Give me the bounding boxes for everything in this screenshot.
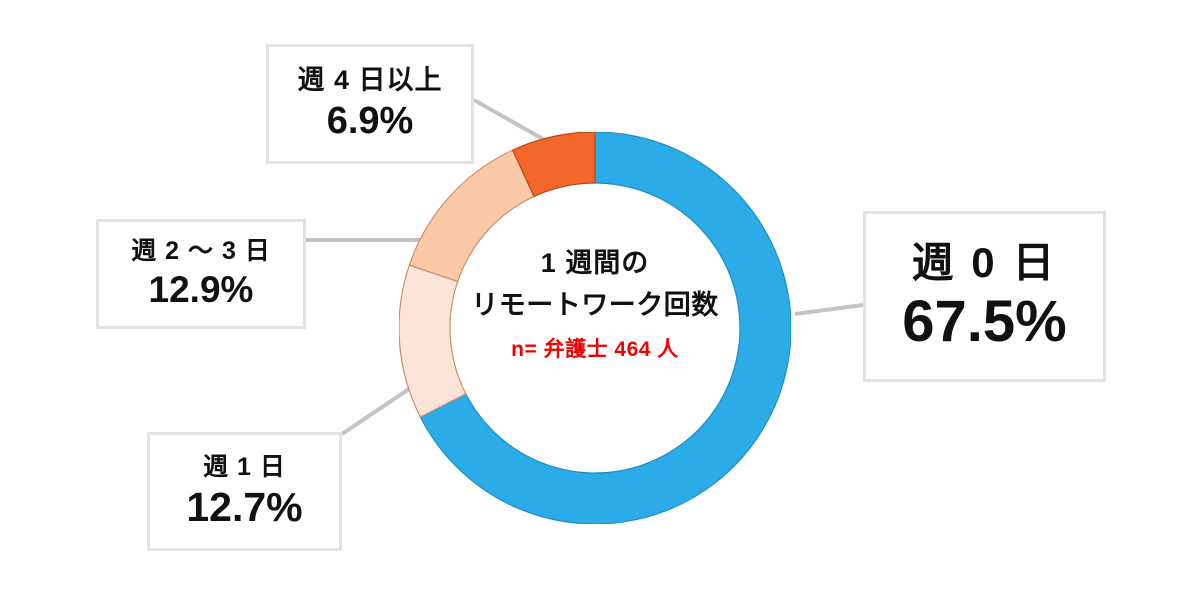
callout-category-week4plus: 週 4 日以上 — [297, 66, 442, 96]
chart-canvas: 1 週間の リモートワーク回数 n= 弁護士 464 人 週 4 日以上 6.9… — [0, 0, 1200, 600]
callout-percent-week23: 12.9% — [149, 271, 254, 310]
callout-percent-week4plus: 6.9% — [327, 102, 414, 142]
callout-box-week0[interactable]: 週 0 日 67.5% — [863, 211, 1106, 382]
callout-percent-week0: 67.5% — [902, 292, 1066, 353]
callout-category-week23: 週 2 〜 3 日 — [131, 238, 271, 266]
callout-category-week0: 週 0 日 — [912, 240, 1058, 286]
callout-box-week23[interactable]: 週 2 〜 3 日 12.9% — [96, 219, 306, 329]
callout-category-week1: 週 1 日 — [203, 454, 286, 482]
callout-box-week1[interactable]: 週 1 日 12.7% — [147, 432, 342, 551]
connector-line-w0 — [795, 305, 863, 314]
center-title-line-2: リモートワーク回数 — [435, 290, 755, 322]
donut-center-text: 1 週間の リモートワーク回数 n= 弁護士 464 人 — [435, 248, 755, 363]
center-title-line-1: 1 週間の — [435, 248, 755, 280]
center-sample-size-note: n= 弁護士 464 人 — [435, 333, 755, 363]
callout-percent-week1: 12.7% — [186, 486, 302, 529]
callout-box-week4plus[interactable]: 週 4 日以上 6.9% — [266, 44, 474, 164]
